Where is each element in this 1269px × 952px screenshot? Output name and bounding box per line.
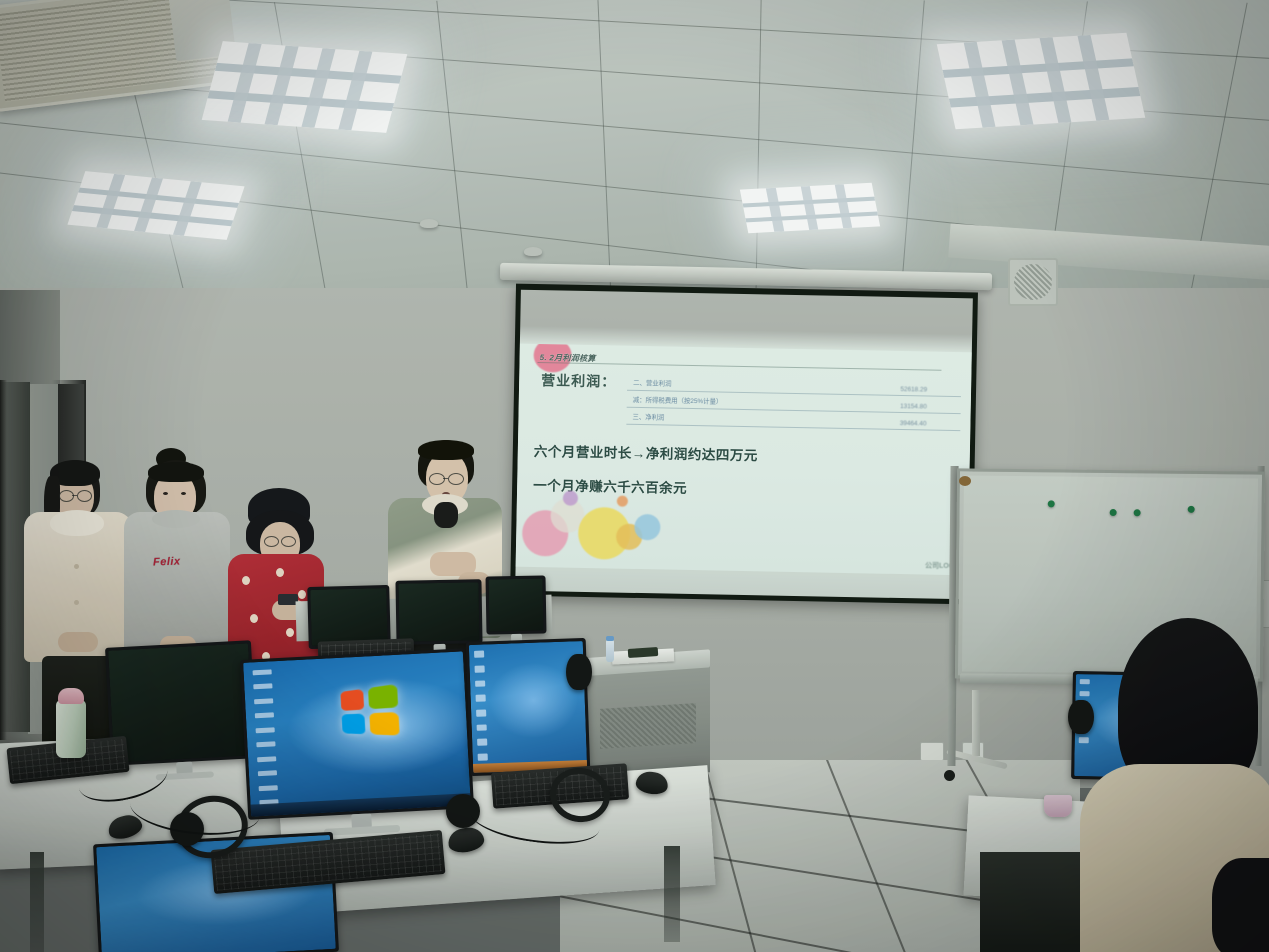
table-cell-value: 39464.40 — [900, 420, 927, 428]
glasses-lens-right — [281, 536, 296, 547]
jacket-button — [74, 600, 79, 605]
slide-decor-circle — [617, 496, 628, 507]
slide-bullet-2: 一个月净赚六千六百余元 — [533, 474, 687, 497]
wall-outlet-1 — [920, 742, 944, 761]
ceiling-light-4 — [740, 183, 880, 234]
table-cell-label: 二、营业利润 — [627, 377, 672, 387]
hair-fringe — [148, 462, 204, 482]
table-cell-value: 52618.29 — [900, 386, 927, 394]
seated-viewer — [1066, 618, 1269, 952]
whiteboard-magnet[interactable] — [1134, 509, 1141, 516]
glasses-bridge — [443, 478, 448, 479]
glasses-lens-left — [59, 490, 74, 502]
desktop-icons[interactable] — [474, 650, 508, 764]
inner-shirt — [434, 502, 458, 528]
jacket-collar — [50, 510, 104, 536]
desk-leg-center — [664, 846, 680, 942]
slide-decor-circle — [634, 514, 660, 540]
sweatshirt-collar — [152, 510, 200, 528]
windows-logo-icon — [340, 684, 400, 736]
water-bottle-cap — [606, 636, 614, 641]
ceiling-light-3 — [937, 33, 1145, 130]
headset-earcup-monitor — [566, 654, 592, 690]
water-bottle — [606, 640, 614, 662]
wall-vent — [1008, 258, 1058, 306]
monitor-front-left[interactable] — [105, 640, 257, 765]
table-cell-label: 减：所得税费用（按25%计量） — [627, 394, 723, 405]
slide-bullet-1: 六个月营业时长→净利润约达四万元 — [534, 440, 758, 464]
glasses-lens-left — [264, 536, 279, 547]
whiteboard-magnet[interactable] — [1188, 506, 1195, 513]
table-cell-label: 三、净利润 — [626, 411, 664, 421]
classroom-photo: 5. 2月利润核算 营业利润： 二、营业利润 52618.29 减：所得税费用（… — [0, 0, 1269, 952]
slide-section-heading: 5. 2月利润核算 — [540, 352, 596, 364]
desk-leg-left — [30, 852, 44, 952]
smoke-detector-1 — [420, 219, 438, 228]
chair-wheel — [944, 770, 955, 781]
sweater-pattern — [286, 628, 294, 637]
jacket-button — [74, 564, 79, 569]
glasses-lens-right — [448, 473, 464, 485]
smoke-detector-2 — [524, 247, 542, 256]
sweatshirt-graphic: Felix — [153, 556, 181, 569]
hair-shoulder — [1212, 858, 1269, 952]
thermos-cap — [58, 688, 84, 704]
chair-post — [972, 690, 980, 756]
whiteboard-clip — [959, 476, 971, 486]
glasses-bridge — [72, 495, 77, 496]
table-cell-value: 13154.80 — [900, 403, 927, 411]
whiteboard-magnet[interactable] — [1048, 500, 1055, 507]
ceiling-light-2 — [67, 171, 244, 240]
desktop-icons[interactable] — [252, 667, 316, 805]
projector-screen: 5. 2月利润核算 营业利润： 二、营业利润 52618.29 减：所得税费用（… — [510, 284, 978, 605]
ceiling-light-1 — [202, 41, 408, 133]
hands — [58, 632, 98, 652]
eye — [181, 492, 186, 495]
whiteboard-magnet[interactable] — [1110, 509, 1117, 516]
presentation-slide: 5. 2月利润核算 营业利润： 二、营业利润 52618.29 减：所得税费用（… — [516, 344, 972, 575]
profit-table: 二、营业利润 52618.29 减：所得税费用（按25%计量） 13154.80… — [626, 374, 961, 431]
sweater-pattern — [242, 576, 250, 585]
eye — [163, 492, 168, 495]
glasses-lens-left — [429, 473, 445, 485]
monitor-front-win7[interactable] — [240, 648, 474, 820]
monitor-back-right[interactable] — [485, 575, 546, 634]
thermos-flask[interactable] — [56, 700, 86, 758]
glasses-lens-right — [77, 490, 92, 502]
sweater-pattern — [250, 614, 258, 623]
monitor-back-mid[interactable] — [395, 579, 482, 644]
slide-lead-label: 营业利润： — [541, 370, 616, 391]
hair-fringe — [418, 440, 474, 460]
lectern-vent-panel — [600, 703, 696, 749]
sweater-pattern — [298, 590, 306, 599]
sweater-pattern — [276, 568, 284, 577]
